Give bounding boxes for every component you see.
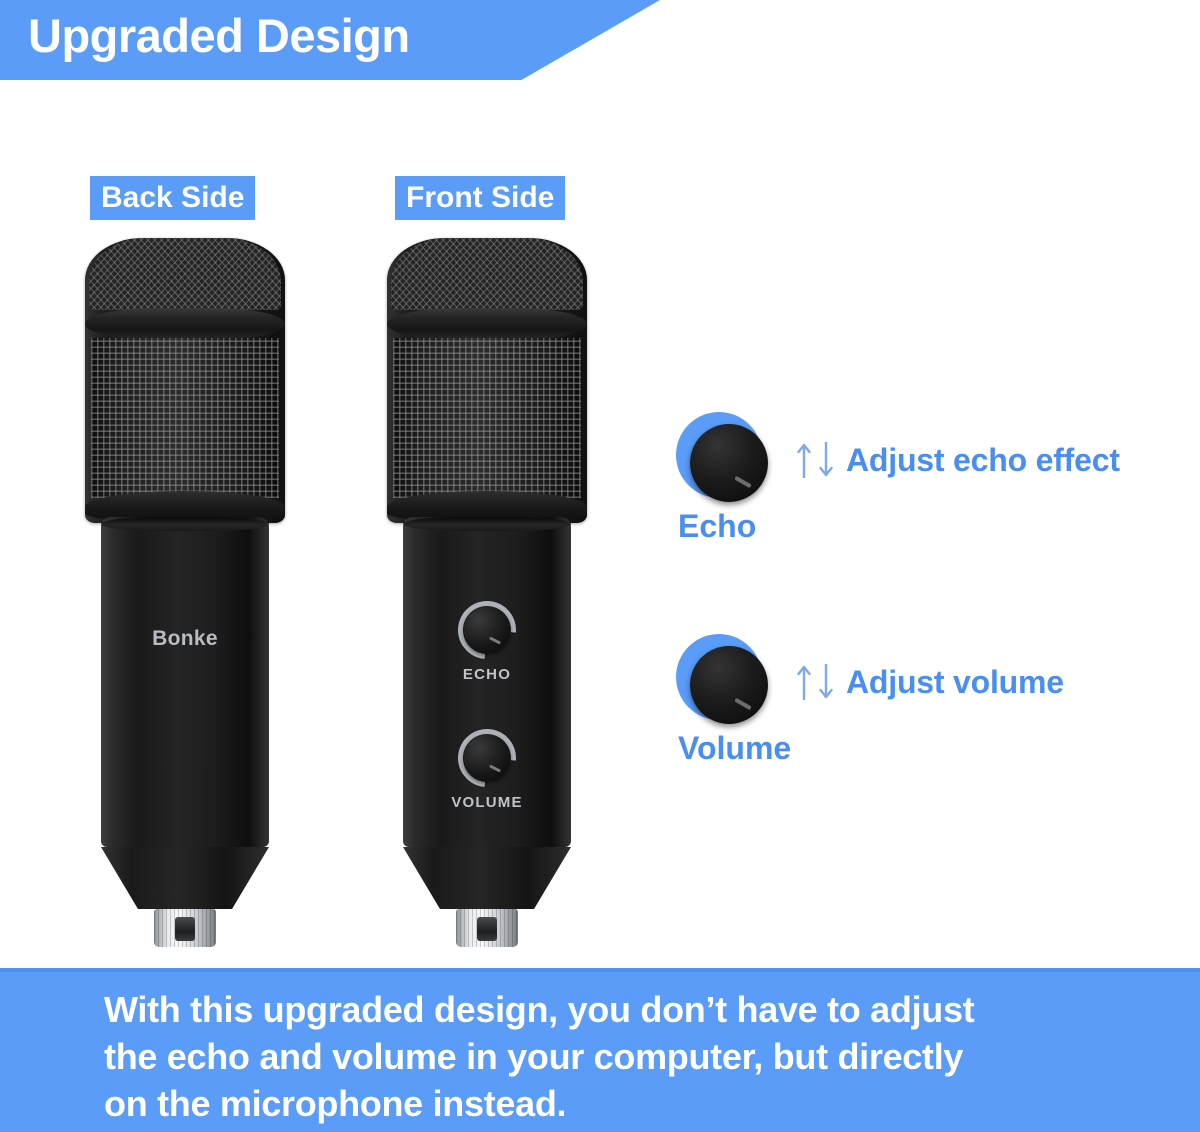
mic-mesh-dome [391, 238, 583, 310]
footer-caption-text: With this upgraded design, you don’t hav… [104, 986, 1124, 1127]
callout-volume-knob-illustration [676, 630, 780, 734]
callout-echo-name: Echo [678, 508, 1120, 545]
callout-echo-description: Adjust echo effect [846, 442, 1120, 479]
label-front-side: Front Side [395, 176, 565, 220]
callout-volume: Adjust volume Volume [676, 630, 1064, 767]
footer-line-1: With this upgraded design, you don’t hav… [104, 986, 1124, 1033]
echo-knob-cap[interactable] [464, 607, 510, 653]
arrow-down-icon [818, 440, 834, 480]
mic-body-top-ring [101, 517, 269, 531]
mic-grille-head [85, 238, 285, 523]
mic-mount-hole [175, 917, 195, 941]
volume-knob-indicator [489, 764, 501, 772]
echo-knob-dial[interactable] [458, 601, 516, 659]
callout-volume-description: Adjust volume [846, 664, 1064, 701]
footer-caption-bar: With this upgraded design, you don’t hav… [0, 968, 1200, 1132]
mic-mount-hole [477, 917, 497, 941]
mic-volume-knob-group[interactable]: VOLUME [403, 729, 571, 811]
volume-updown-arrows [796, 662, 834, 702]
mic-head-upper-band [85, 308, 285, 340]
mic-body-back: Bonke [101, 517, 269, 847]
label-back-side: Back Side [90, 176, 255, 220]
mic-thread-mount-back [154, 909, 216, 947]
arrow-up-icon [796, 440, 812, 480]
page-title: Upgraded Design [28, 8, 410, 63]
brand-logo-text: Bonke [101, 627, 269, 651]
volume-callout-knob-indicator [734, 698, 752, 710]
callout-echo: Adjust echo effect Echo [676, 408, 1120, 545]
microphone-back-view: Bonke [70, 238, 300, 947]
mic-grille-head [387, 238, 587, 523]
mic-taper-back [101, 847, 269, 909]
callout-echo-knob-illustration [676, 408, 780, 512]
mic-mesh-panel [393, 338, 581, 498]
mic-mesh-dome [89, 238, 281, 310]
volume-knob-label: VOLUME [403, 794, 571, 811]
volume-knob-dial[interactable] [458, 729, 516, 787]
callout-volume-row: Adjust volume [676, 630, 1064, 734]
arrow-down-icon [818, 662, 834, 702]
footer-line-3: on the microphone instead. [104, 1080, 1124, 1127]
volume-callout-knob-cap [690, 646, 768, 724]
mic-body-front: ECHO VOLUME [403, 517, 571, 847]
footer-line-2: the echo and volume in your computer, bu… [104, 1033, 1124, 1080]
mic-head-upper-band [387, 308, 587, 340]
microphone-front-view: ECHO VOLUME [372, 238, 602, 947]
callout-volume-name: Volume [678, 730, 1064, 767]
echo-updown-arrows [796, 440, 834, 480]
echo-knob-label: ECHO [403, 666, 571, 683]
mic-body-top-ring [403, 517, 571, 531]
mic-echo-knob-group[interactable]: ECHO [403, 601, 571, 683]
echo-knob-indicator [489, 636, 501, 644]
echo-callout-knob-indicator [734, 476, 752, 488]
mic-taper-front [403, 847, 571, 909]
mic-mesh-panel [91, 338, 279, 498]
arrow-up-icon [796, 662, 812, 702]
mic-thread-mount-front [456, 909, 518, 947]
volume-knob-cap[interactable] [464, 735, 510, 781]
callout-echo-row: Adjust echo effect [676, 408, 1120, 512]
echo-callout-knob-cap [690, 424, 768, 502]
